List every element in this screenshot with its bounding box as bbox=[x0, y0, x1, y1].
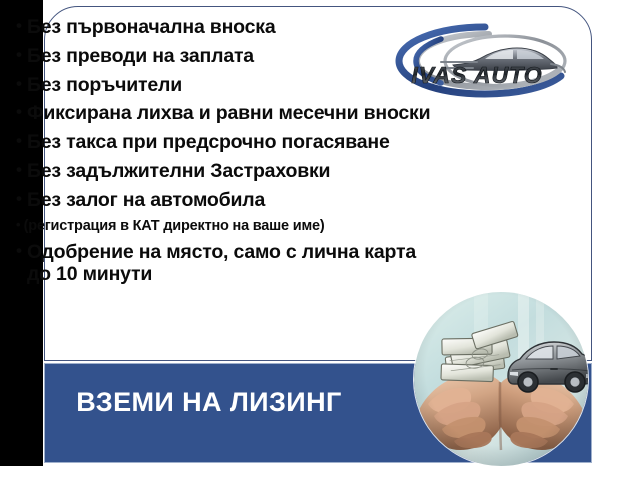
bullet-icon: • bbox=[16, 75, 22, 93]
bullet-icon: • bbox=[16, 103, 22, 121]
benefit-item: •(регистрация в КАТ директно на ваше име… bbox=[16, 218, 546, 234]
benefit-item: •Без първоначална вноска bbox=[16, 17, 546, 39]
bullet-icon: • bbox=[16, 132, 22, 150]
bullet-icon: • bbox=[16, 190, 22, 208]
leasing-banner-headline: ВЗЕМИ НА ЛИЗИНГ bbox=[44, 387, 374, 418]
bullet-icon: • bbox=[16, 46, 22, 64]
benefit-item-label: Без такса при предсрочно погасяване bbox=[27, 132, 546, 154]
bullet-icon: • bbox=[16, 242, 22, 260]
benefit-item: •Без поръчители bbox=[16, 75, 546, 97]
benefit-item-label: Фиксирана лихва и равни месечни вноски bbox=[27, 103, 546, 125]
benefit-item-label: Без задължителни Застраховки bbox=[27, 161, 546, 183]
benefit-item: •Фиксирана лихва и равни месечни вноски bbox=[16, 103, 546, 125]
bullet-icon: • bbox=[16, 218, 21, 232]
benefit-item: •Без залог на автомобила bbox=[16, 190, 546, 212]
benefit-item-label: Без поръчители bbox=[27, 75, 546, 97]
benefit-item: •Без такса при предсрочно погасяване bbox=[16, 132, 546, 154]
benefit-item-label: Без преводи на заплата bbox=[27, 46, 546, 68]
benefit-item: •Одобрение на място, само с лична карта … bbox=[16, 242, 546, 286]
benefit-item: •Без задължителни Застраховки bbox=[16, 161, 546, 183]
bullet-icon: • bbox=[16, 161, 22, 179]
benefit-item-label: Без залог на автомобила bbox=[27, 190, 546, 212]
bullet-icon: • bbox=[16, 17, 22, 35]
benefit-item-label: Одобрение на място, само с лична карта д… bbox=[27, 242, 546, 286]
benefit-item-label: (регистрация в КАТ директно на ваше име) bbox=[24, 218, 546, 234]
benefit-item-label: Без първоначална вноска bbox=[27, 17, 546, 39]
hands-money-car-photo bbox=[414, 292, 588, 466]
benefit-item: •Без преводи на заплата bbox=[16, 46, 546, 68]
hands-photo-illustration bbox=[414, 292, 588, 466]
benefits-list: •Без първоначална вноска•Без преводи на … bbox=[16, 17, 546, 293]
